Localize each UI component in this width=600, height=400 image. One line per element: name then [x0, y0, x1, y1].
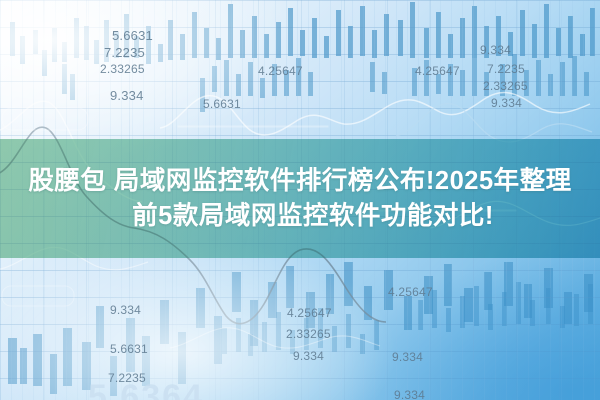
- chart-price-label: 9.334: [110, 88, 144, 103]
- thumbnail-canvas: 5.66317.22352.332659.3344.256475.66314.2…: [0, 0, 600, 400]
- headline-line-2: 前5款局域网监控软件功能对比!: [106, 201, 494, 232]
- chart-price-label: 9.334: [392, 350, 423, 364]
- headline-block: 股腰包 局域网监控软件排行榜公布!2025年整理 前5款局域网监控软件功能对比!: [0, 139, 600, 258]
- chart-price-label: 2.33265: [483, 79, 528, 93]
- chart-price-label: 9.334: [293, 349, 324, 363]
- chart-price-label: 5.6631: [110, 342, 148, 356]
- chart-price-label: 5.6631: [112, 28, 153, 43]
- chart-price-label: 9.334: [110, 303, 141, 317]
- chart-price-label: 2.33265: [100, 62, 145, 76]
- chart-price-label: 7.2235: [104, 45, 145, 60]
- chart-price-label: 4.25647: [415, 64, 460, 78]
- chart-price-label: 9.334: [491, 96, 522, 110]
- chart-price-label: 9.334: [394, 388, 425, 400]
- chart-price-label: 4.25647: [388, 285, 433, 299]
- chart-price-label: 7.2235: [487, 62, 525, 76]
- chart-price-label: 5.6631: [203, 97, 241, 111]
- chart-price-label: 9.334: [480, 43, 511, 57]
- chart-price-label: 5.6364: [88, 378, 204, 400]
- chart-price-label: 4.25647: [287, 306, 332, 320]
- headline-line-1: 股腰包 局域网监控软件排行榜公布!2025年整理: [28, 166, 571, 197]
- chart-price-label: 2.33265: [286, 327, 331, 341]
- chart-price-label: 4.25647: [258, 64, 303, 78]
